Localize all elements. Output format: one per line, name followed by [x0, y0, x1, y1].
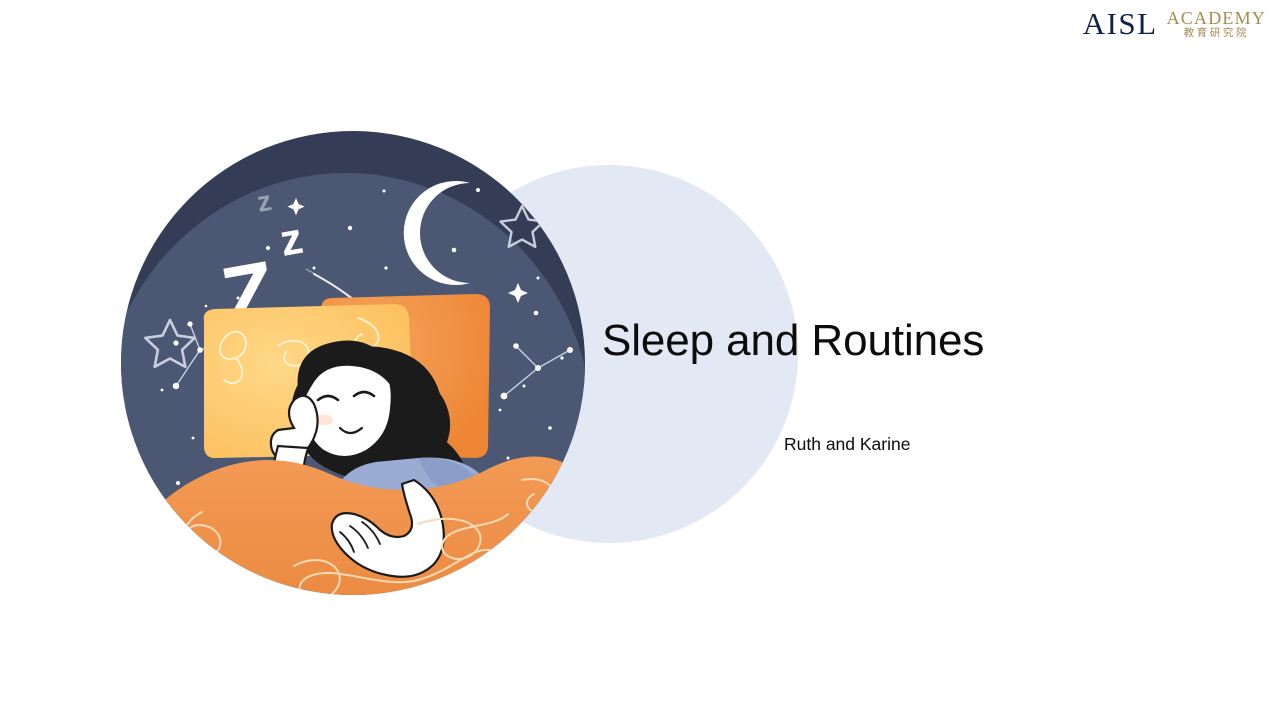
logo-chinese-text: 教育研究院: [1184, 28, 1250, 39]
logo-primary-text: AISL: [1083, 8, 1158, 41]
illustration-svg: z z Z: [118, 128, 588, 598]
page-subtitle: Ruth and Karine: [784, 434, 910, 455]
logo-secondary-group: ACADEMY 教育研究院: [1167, 9, 1266, 42]
slide-canvas: AISL ACADEMY 教育研究院: [0, 0, 1280, 720]
aisl-academy-logo: AISL ACADEMY 教育研究院: [1083, 8, 1266, 41]
logo-secondary-text: ACADEMY: [1167, 9, 1266, 27]
sleeping-woman-night-illustration: z z Z: [118, 128, 588, 598]
page-title: Sleep and Routines: [602, 316, 984, 366]
